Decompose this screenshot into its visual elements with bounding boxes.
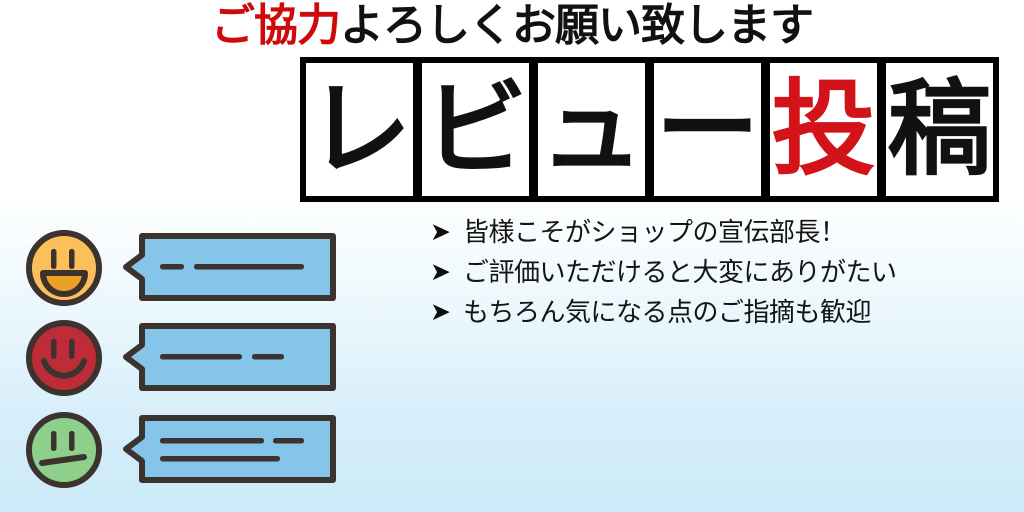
bubble-text-line [160, 264, 184, 270]
page-title-black-part: よろしくお願い致します [340, 1, 813, 50]
bubble-text-line [194, 264, 304, 270]
arrow-right-pointer-icon: ➤ [430, 300, 451, 325]
review-row [24, 318, 324, 404]
boxed-char-5: 稿 [880, 57, 999, 202]
boxed-char-2: ュ [532, 57, 651, 202]
arrow-right-pointer-icon: ➤ [430, 260, 451, 285]
bullet-item-label: もちろん気になる点のご指摘も歓迎 [463, 299, 871, 325]
page-title: ご協力よろしくお願い致します [0, 0, 1024, 54]
smiley-face-smiling-icon [24, 318, 104, 398]
bubble-text-line [252, 354, 284, 360]
bullet-item: ➤ ご評価いただけると大変にありがたい [430, 259, 990, 299]
bubble-text-line [273, 438, 304, 444]
bullet-item: ➤ 皆様こそがショップの宣伝部長！ [430, 219, 990, 259]
smiley-face-neutral-icon [24, 410, 104, 490]
bullet-item-label: ご評価いただけると大変にありがたい [463, 259, 897, 285]
bubble-text-line [160, 354, 242, 360]
boxed-char-1: ビ [416, 57, 535, 202]
speech-bubble [121, 322, 337, 392]
bullet-list: ➤ 皆様こそがショップの宣伝部長！ ➤ ご評価いただけると大変にありがたい ➤ … [430, 219, 990, 339]
speech-bubble [121, 414, 337, 484]
boxed-char-0: レ [300, 57, 419, 202]
bullet-item-label: 皆様こそがショップの宣伝部長！ [463, 219, 846, 245]
review-row [24, 228, 324, 314]
smiley-face-happy-icon [24, 228, 104, 308]
boxed-word-row: レ ビ ュ ー 投 稿 [300, 57, 999, 202]
promo-banner: ご協力よろしくお願い致します レ ビ ュ ー 投 稿 ➤ 皆様こそがショップの宣… [0, 0, 1024, 512]
boxed-char-4: 投 [764, 57, 883, 202]
bubble-text-line [160, 438, 264, 444]
bubble-text-line [160, 456, 280, 462]
boxed-char-3: ー [648, 57, 767, 202]
page-title-red-part: ご協力 [211, 1, 340, 50]
speech-bubble [121, 232, 337, 302]
review-row [24, 410, 324, 496]
bullet-item: ➤ もちろん気になる点のご指摘も歓迎 [430, 299, 990, 339]
arrow-right-pointer-icon: ➤ [430, 220, 451, 245]
